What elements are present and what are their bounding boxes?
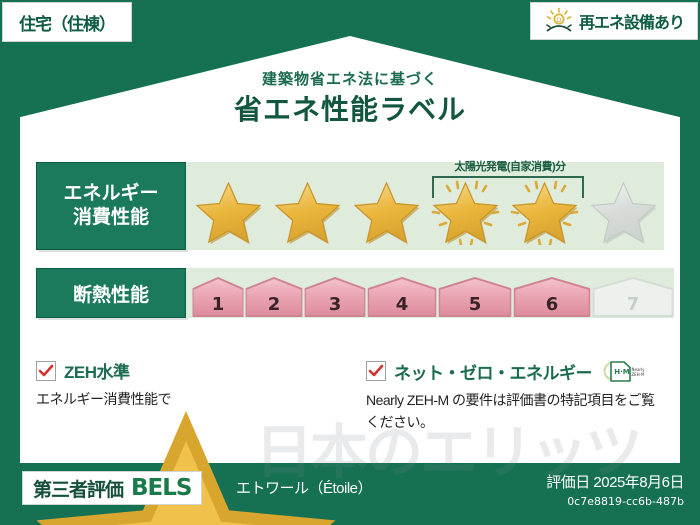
insulation-grade-list: 1234567 <box>186 268 674 318</box>
insulation-grade-filled: 4 <box>367 276 437 318</box>
bels-label: BELS <box>131 475 191 501</box>
solar-bracket-label: 太陽光発電(自家消費)分 <box>410 158 610 174</box>
evaluation-info: 評価日 2025年8月6日 0c7e8819-cc6b-487b <box>546 471 684 508</box>
energy-label-card: 日本のエリッツ 住宅（住棟） D 再エネ設備あり 建築物 <box>0 0 700 525</box>
insulation-grade-filled: 2 <box>245 276 303 318</box>
svg-text:D: D <box>557 17 562 24</box>
evaluation-date: 評価日 2025年8月6日 <box>546 471 684 492</box>
insulation-grade-value: 2 <box>268 294 281 315</box>
insulation-grade-empty: 7 <box>592 276 674 318</box>
insulation-grade-filled: 3 <box>304 276 366 318</box>
star-empty <box>585 179 662 245</box>
footer: 第三者評価 BELS エトワール（Étoile） 評価日 2025年8月6日 0… <box>0 463 700 525</box>
solar-sun-icon: D <box>544 7 574 35</box>
bels-certification-badge: 第三者評価 BELS <box>22 471 202 505</box>
star-filled <box>506 179 583 245</box>
nearly-zeh-m-logo: H·M Nearly ZEH-M <box>602 358 644 384</box>
net-zero-energy-note: ネット・ゼロ・エネルギー H·M Nearly ZEH-M Nearly ZEH… <box>366 358 666 433</box>
zeh-note-header: ZEH水準 <box>36 358 336 383</box>
net-zero-note-title: ネット・ゼロ・エネルギー <box>394 359 592 384</box>
energy-label-line2: 消費性能 <box>73 206 149 230</box>
insulation-grade-value: 5 <box>469 294 482 315</box>
insulation-grade-filled: 6 <box>513 276 591 318</box>
svg-text:H·M: H·M <box>614 368 630 376</box>
third-party-label: 第三者評価 <box>33 475 123 502</box>
label-subtitle: 建築物省エネ法に基づく <box>0 68 700 89</box>
star-filled <box>190 179 267 245</box>
check-icon <box>366 361 386 381</box>
evaluation-id: 0c7e8819-cc6b-487b <box>546 495 684 508</box>
insulation-grade-value: 1 <box>212 294 225 315</box>
energy-label-line1: エネルギー <box>63 182 158 206</box>
insulation-grade-value: 4 <box>396 294 409 315</box>
energy-performance-label: エネルギー 消費性能 <box>36 162 186 250</box>
insulation-grade-filled: 5 <box>438 276 512 318</box>
building-type-label: 住宅（住棟） <box>19 10 115 35</box>
building-name: エトワール（Étoile） <box>236 477 372 498</box>
zeh-body-part1: エネルギー消費性能で <box>36 391 171 407</box>
building-type-tag: 住宅（住棟） <box>2 2 132 42</box>
energy-performance-row: エネルギー 消費性能 太陽光発電(自家消費)分 <box>36 162 664 250</box>
star-filled <box>427 179 504 245</box>
insulation-grade-value: 3 <box>329 294 342 315</box>
insulation-performance-label: 断熱性能 <box>36 268 186 318</box>
insulation-grade-value: 7 <box>627 294 640 315</box>
star-rating <box>186 179 662 245</box>
renewable-equipment-label: 再エネ設備あり <box>579 9 684 33</box>
insulation-grade-filled: 1 <box>192 276 244 318</box>
net-zero-note-header: ネット・ゼロ・エネルギー H·M Nearly ZEH-M <box>366 358 666 384</box>
zeh-note-title: ZEH水準 <box>64 358 130 383</box>
star-filled <box>348 179 425 245</box>
star-filled <box>269 179 346 245</box>
label-title: 省エネ性能ラベル <box>0 88 700 128</box>
insulation-performance-row: 断熱性能 1234567 <box>36 268 664 318</box>
insulation-grade-value: 6 <box>546 294 559 315</box>
insulation-label-text: 断熱性能 <box>73 280 149 307</box>
svg-text:ZEH-M: ZEH-M <box>631 372 644 377</box>
energy-rating-area: 太陽光発電(自家消費)分 <box>186 162 664 250</box>
net-zero-note-body: Nearly ZEH-M の要件は評価書の特記項目をご覧ください。 <box>366 390 666 433</box>
renewable-equipment-tag: D 再エネ設備あり <box>530 2 698 40</box>
insulation-rating-area: 1234567 <box>186 268 674 318</box>
check-icon <box>36 361 56 381</box>
